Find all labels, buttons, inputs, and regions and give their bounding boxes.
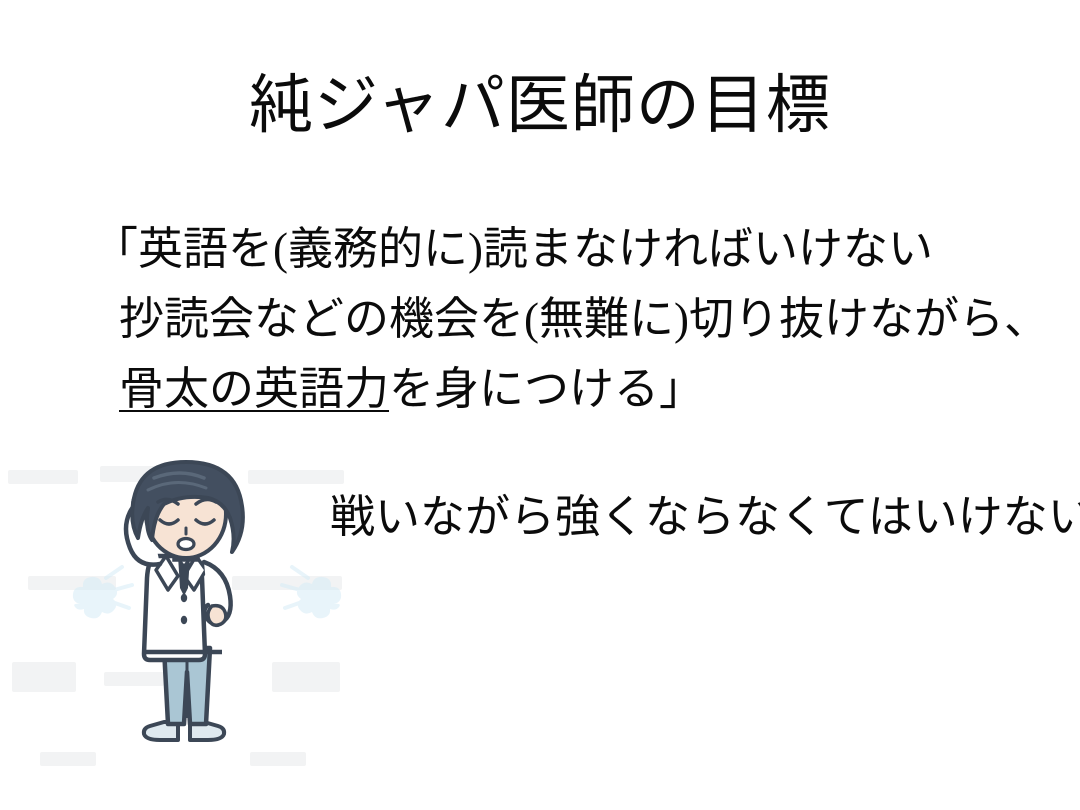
bottom-caption: 戦いながら強くならなくてはいけない bbox=[330, 487, 1080, 547]
mouth bbox=[178, 539, 194, 550]
arm-on-hip bbox=[204, 562, 231, 625]
quote-line-3: 骨太の英語力を身につける」 bbox=[93, 354, 1049, 424]
quote-line-1: 「英語を(義務的に)読まなければいけない bbox=[93, 214, 1049, 284]
quote-block: 「英語を(義務的に)読まなければいけない 抄読会などの機会を(無難に)切り抜けな… bbox=[93, 214, 1049, 424]
steam-puff-right-icon bbox=[282, 567, 341, 618]
quote-line-2: 抄読会などの機会を(無難に)切り抜けながら、 bbox=[93, 284, 1049, 354]
coat-button bbox=[181, 616, 187, 624]
quote-line-3-rest: を身につける」 bbox=[389, 364, 704, 414]
troubled-doctor-illustration bbox=[62, 452, 352, 772]
steam-puff-left-icon bbox=[73, 567, 132, 618]
coat-button bbox=[181, 594, 187, 602]
quote-emphasis-underlined: 骨太の英語力 bbox=[119, 364, 389, 414]
slide-canvas: 純ジャパ医師の目標 「英語を(義務的に)読まなければいけない 抄読会などの機会を… bbox=[0, 0, 1080, 810]
slide-title: 純ジャパ医師の目標 bbox=[0, 74, 1080, 138]
